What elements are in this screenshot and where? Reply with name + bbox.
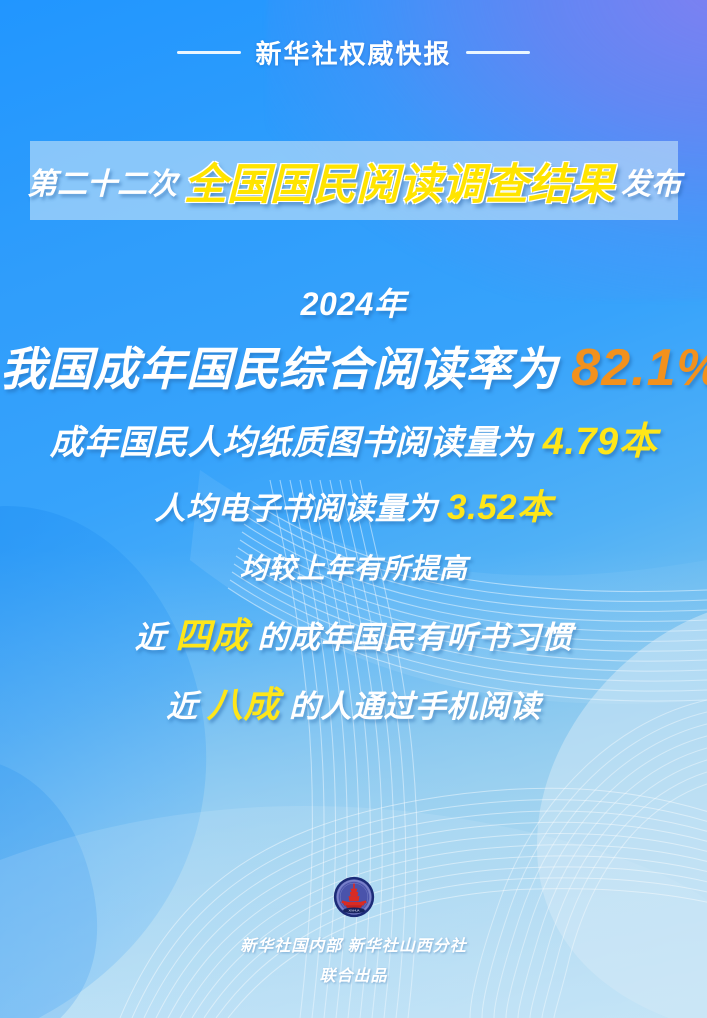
- statement-prefix: 近: [135, 620, 167, 655]
- statement-label: 人均电子书阅读量为: [154, 491, 438, 526]
- statement-value-forty-percent: 四成: [175, 615, 248, 656]
- banner-suffix: 发布: [621, 159, 681, 203]
- statement-year: 2024年: [0, 286, 707, 323]
- statement-value-82-1-percent: 82.1%: [571, 339, 707, 397]
- footer-line-2: 联合出品: [0, 962, 707, 986]
- statement-paper-book-volume: 成年国民人均纸质图书阅读量为 4.79本: [0, 421, 707, 465]
- statement-comprehensive-reading-rate: 我国成年国民综合阅读率为 82.1%: [0, 339, 707, 399]
- statement-ebook-volume: 人均电子书阅读量为 3.52本: [0, 488, 707, 528]
- statement-audiobook-habit: 近 四成 的成年国民有听书习惯: [0, 615, 707, 656]
- header-kicker: 新华社权威快报: [0, 34, 707, 71]
- statement-both-increased: 均较上年有所提高: [0, 553, 707, 585]
- statement-suffix: 的成年国民有听书习惯: [257, 620, 572, 655]
- svg-text:XINHUA: XINHUA: [348, 909, 359, 913]
- statement-list: 2024年 我国成年国民综合阅读率为 82.1% 成年国民人均纸质图书阅读量为 …: [0, 286, 707, 726]
- banner-highlight: 全国国民阅读调查结果: [184, 150, 614, 212]
- footer-line-1: 新华社国内部 新华社山西分社: [0, 932, 707, 956]
- statement-year-text: 2024年: [301, 286, 407, 322]
- statement-label: 我国成年国民综合阅读率为: [0, 343, 558, 395]
- infographic-poster: 新华社权威快报 第二十二次 全国国民阅读调查结果 发布 2024年 我国成年国民…: [0, 0, 707, 1018]
- banner-prefix: 第二十二次: [27, 159, 177, 203]
- footer: XINHUA 新华社国内部 新华社山西分社 联合出品: [0, 876, 707, 992]
- kicker-title: 新华社权威快报: [255, 34, 451, 71]
- rule-right-icon: [466, 51, 530, 54]
- statement-value-4-79-books: 4.79本: [543, 421, 657, 463]
- statement-value-eighty-percent: 八成: [207, 684, 280, 725]
- statement-note-text: 均较上年有所提高: [239, 553, 467, 584]
- title-banner: 第二十二次 全国国民阅读调查结果 发布: [30, 141, 678, 220]
- statement-label: 成年国民人均纸质图书阅读量为: [50, 424, 533, 462]
- statement-prefix: 近: [166, 689, 198, 724]
- rule-left-icon: [177, 51, 241, 54]
- statement-value-3-52-books: 3.52本: [447, 488, 553, 527]
- statement-suffix: 的人通过手机阅读: [289, 689, 541, 724]
- xinhua-agency-emblem-icon: XINHUA: [333, 876, 375, 918]
- statement-mobile-reading: 近 八成 的人通过手机阅读: [0, 684, 707, 725]
